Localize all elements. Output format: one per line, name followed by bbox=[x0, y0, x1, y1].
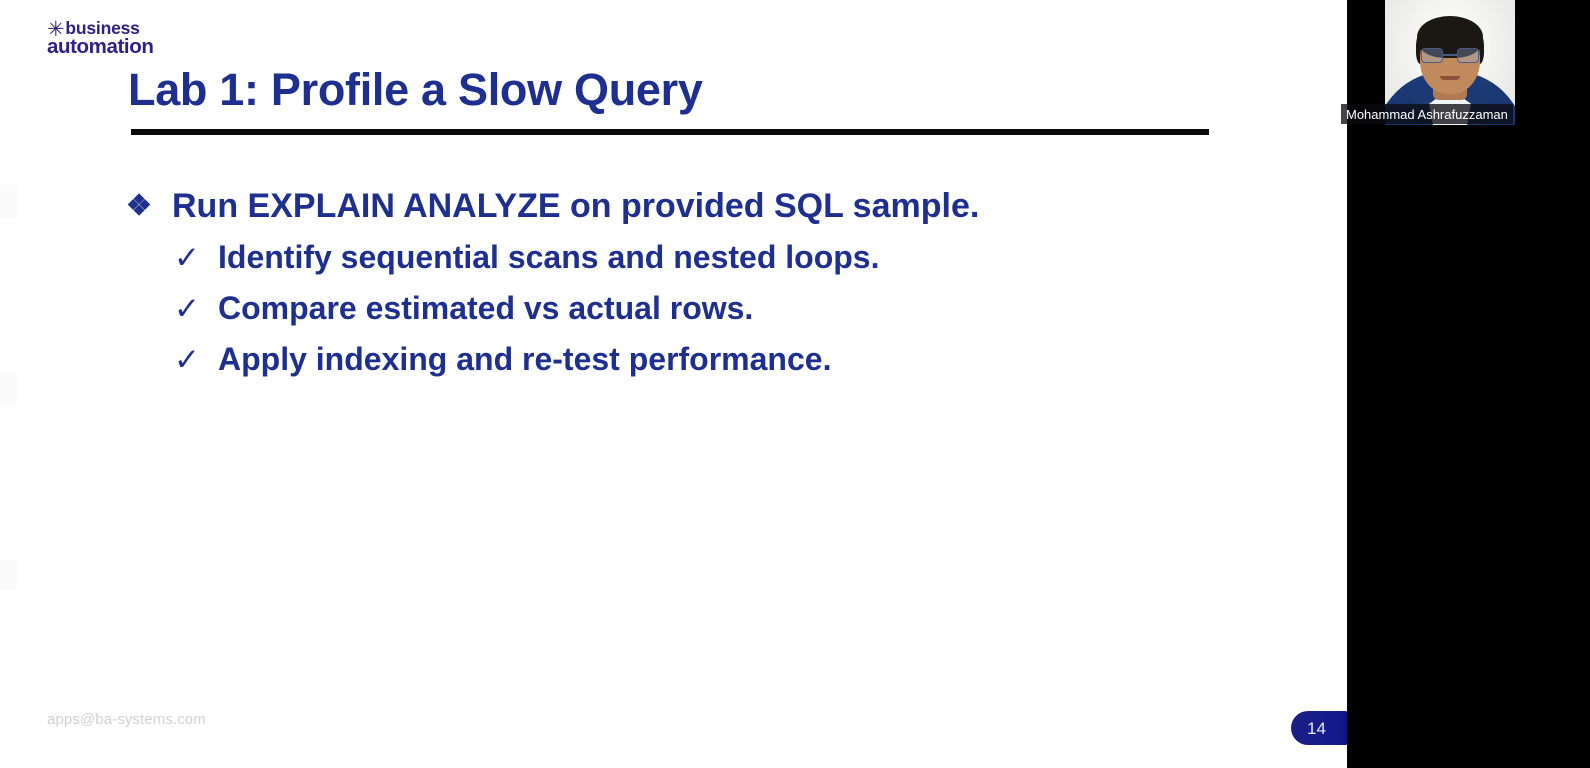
bullet-text: Apply indexing and re-test performance. bbox=[218, 334, 831, 385]
check-bullet-icon: ✓ bbox=[174, 334, 218, 385]
page-number-label: 14 bbox=[1307, 720, 1326, 737]
edge-artifact bbox=[0, 372, 17, 405]
bullet-text: Run EXPLAIN ANALYZE on provided SQL samp… bbox=[172, 180, 979, 232]
bullet-text: Compare estimated vs actual rows. bbox=[218, 283, 753, 334]
asterisk-star-icon: ✳ bbox=[47, 19, 64, 40]
participant-name-label: Mohammad Ashrafuzzaman bbox=[1346, 108, 1508, 121]
bullet-text: Identify sequential scans and nested loo… bbox=[218, 232, 879, 283]
slide-title: Lab 1: Profile a Slow Query bbox=[128, 64, 703, 116]
bullet-item: ❖ Run EXPLAIN ANALYZE on provided SQL sa… bbox=[126, 180, 1276, 232]
slide-stage: ✳ business automation Lab 1: Profile a S… bbox=[0, 0, 1347, 768]
page-number-badge: 14 bbox=[1291, 711, 1347, 745]
check-bullet-icon: ✓ bbox=[174, 283, 218, 334]
participant-name-bar: Mohammad Ashrafuzzaman bbox=[1341, 104, 1513, 124]
check-bullet-icon: ✓ bbox=[174, 232, 218, 283]
bullet-list: ❖ Run EXPLAIN ANALYZE on provided SQL sa… bbox=[126, 180, 1276, 385]
bullet-item: ✓ Compare estimated vs actual rows. bbox=[126, 283, 1276, 334]
title-underline-rule bbox=[131, 129, 1209, 135]
edge-artifact bbox=[0, 560, 17, 590]
footer-email: apps@ba-systems.com bbox=[47, 711, 206, 728]
edge-artifact bbox=[0, 185, 17, 218]
diamond-bullet-icon: ❖ bbox=[126, 180, 172, 232]
brand-logo-word-automation: automation bbox=[47, 37, 247, 58]
brand-logo: ✳ business automation bbox=[47, 19, 247, 58]
bullet-item: ✓ Apply indexing and re-test performance… bbox=[126, 334, 1276, 385]
bullet-item: ✓ Identify sequential scans and nested l… bbox=[126, 232, 1276, 283]
